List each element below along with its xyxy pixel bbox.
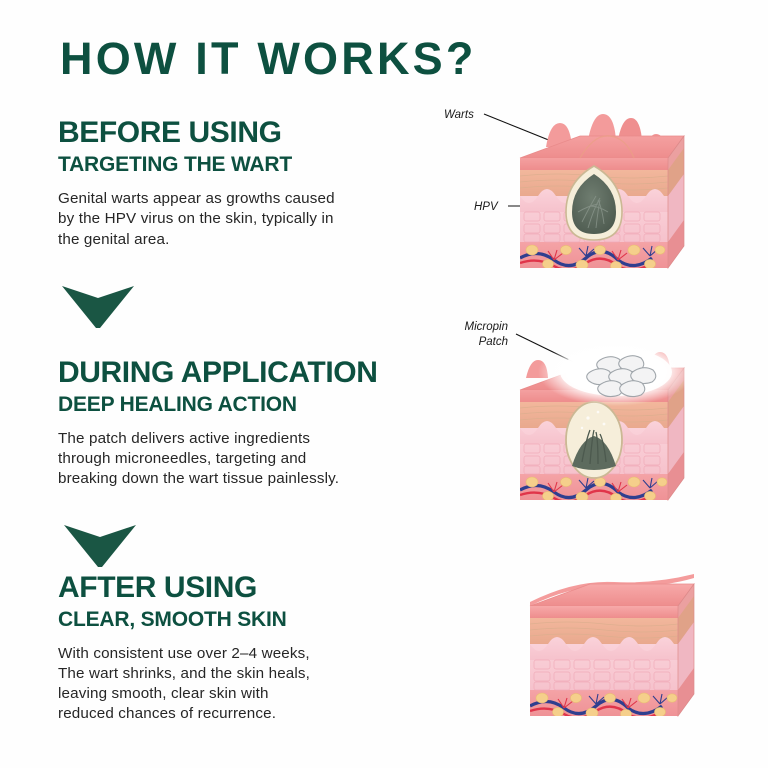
diagram-skin-with-wart: Warts HPV [432,100,768,290]
section-body: Genital warts appear as growths caused b… [58,189,458,252]
section-heading: AFTER USING [58,573,458,604]
label-micropin-line1: Micropin [465,321,508,333]
wart-lesion-shrinking [566,402,622,478]
section-subheading: DEEP HEALING ACTION [58,394,458,416]
section-heading: DURING APPLICATION [58,358,458,389]
label-hpv-text: HPV [474,201,499,213]
section-heading: BEFORE USING [58,118,458,149]
micropin-patch [538,338,694,406]
chevron-down-icon [62,521,138,569]
section-subheading: TARGETING THE WART [58,154,458,176]
infographic-page: HOW IT WORKS? BEFORE USING TARGETING THE… [0,0,768,768]
section-during-application: DURING APPLICATION DEEP HEALING ACTION T… [58,358,458,489]
diagram-skin-clear [500,558,768,734]
label-micropin-line2: Patch [479,336,508,348]
section-subheading: CLEAR, SMOOTH SKIN [58,609,458,631]
page-title: HOW IT WORKS? [60,36,477,81]
section-body: With consistent use over 2–4 weeks, The … [58,644,458,725]
section-after-using: AFTER USING CLEAR, SMOOTH SKIN With cons… [58,573,458,724]
section-body: The patch delivers active ingredients th… [58,429,458,490]
skin-right-face [668,136,684,268]
chevron-down-icon [60,282,136,330]
skin-right-face [678,584,694,716]
section-before-using: BEFORE USING TARGETING THE WART Genital … [58,118,458,251]
diagram-skin-with-patch: Micropin Patch [440,312,768,518]
label-warts-text: Warts [444,109,474,121]
